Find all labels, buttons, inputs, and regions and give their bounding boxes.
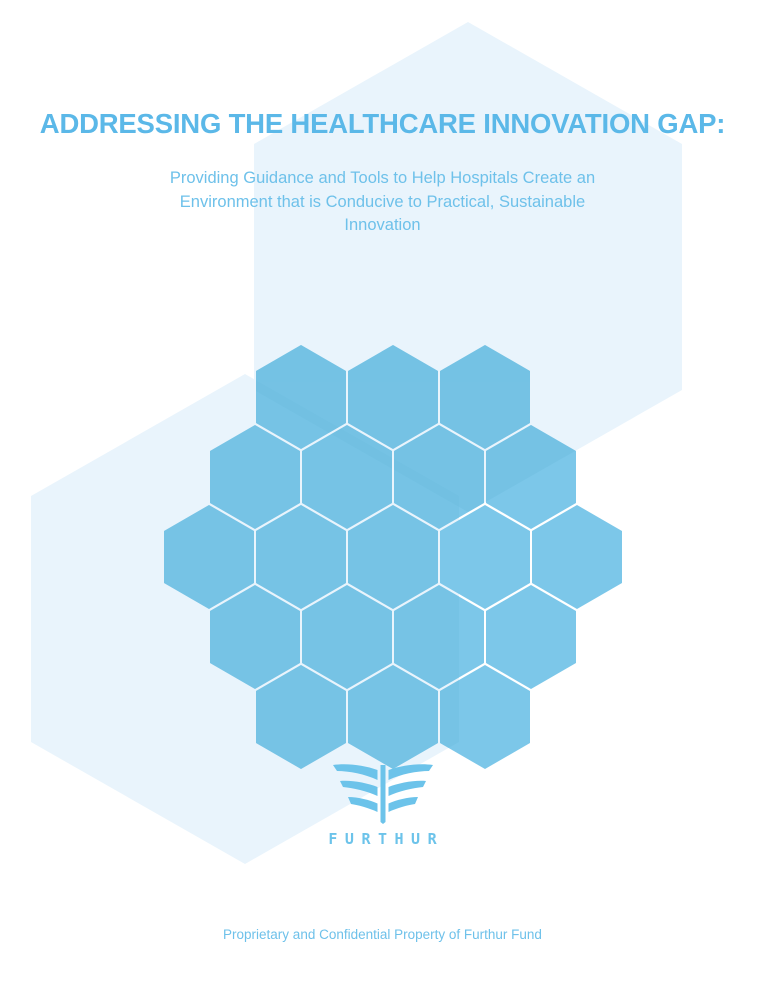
overlap-tint-top (164, 345, 622, 609)
confidentiality-notice: Proprietary and Confidential Property of… (0, 927, 765, 942)
furthur-logo-icon (331, 762, 435, 824)
logo-block: FURTHUR (0, 762, 765, 848)
honeycomb-cluster (164, 345, 622, 769)
title-block: ADDRESSING THE HEALTHCARE INNOVATION GAP… (0, 106, 765, 237)
page-title: ADDRESSING THE HEALTHCARE INNOVATION GAP… (0, 106, 765, 141)
logo-wordmark: FURTHUR (0, 830, 765, 848)
footer: Proprietary and Confidential Property of… (0, 927, 765, 942)
document-cover-page: ADDRESSING THE HEALTHCARE INNOVATION GAP… (0, 0, 765, 990)
overlap-tint-left (164, 345, 530, 769)
page-subtitle: Providing Guidance and Tools to Help Hos… (0, 141, 765, 237)
large-pale-hexagon-top (254, 22, 682, 512)
